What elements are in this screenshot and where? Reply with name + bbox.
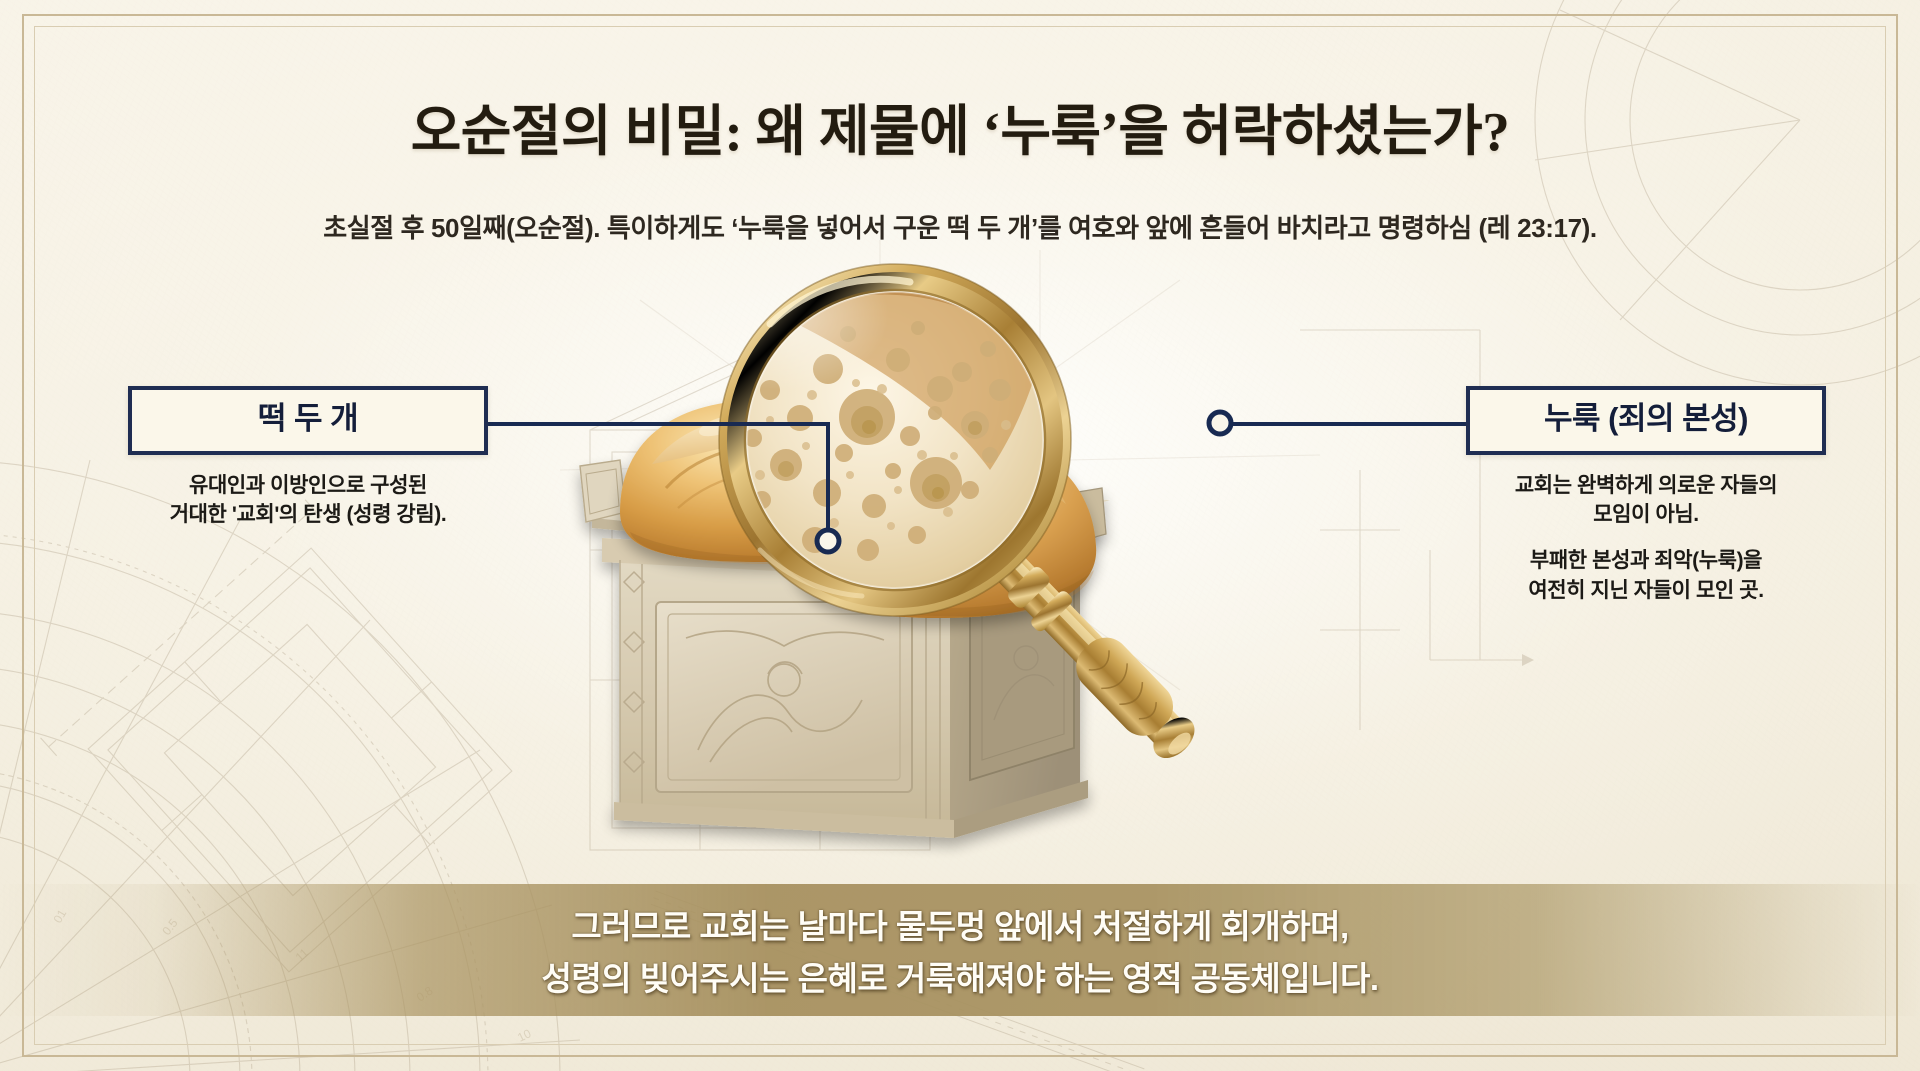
central-illustration bbox=[470, 250, 1480, 890]
callout-right-p1-line-1: 교회는 완벽하게 의로운 자들의 bbox=[1515, 474, 1777, 497]
callout-right-p2-line-1: 부패한 본성과 죄악(누룩)을 bbox=[1530, 549, 1762, 572]
callout-right-title: 누룩 (죄의 본성) bbox=[1476, 403, 1816, 436]
bread-loaf-left bbox=[620, 400, 906, 564]
callout-left-line-1: 유대인과 이방인으로 구성된 bbox=[189, 474, 427, 497]
callout-left-box[interactable]: 떡 두 개 bbox=[128, 386, 488, 455]
callout-right-p1-line-2: 모임이 아님. bbox=[1593, 503, 1698, 526]
page-subtitle: 초실절 후 50일째(오순절). 특이하게도 ‘누룩을 넣어서 구운 떡 두 개… bbox=[0, 208, 1920, 245]
callout-left[interactable]: 떡 두 개 유대인과 이방인으로 구성된 거대한 '교회'의 탄생 (성령 강림… bbox=[128, 386, 488, 530]
callout-right-body: 교회는 완벽하게 의로운 자들의 모임이 아님. 부패한 본성과 죄악(누룩)을… bbox=[1466, 471, 1826, 606]
bread-loaf-right bbox=[787, 428, 1096, 618]
banner-line-1: 그러므로 교회는 날마다 물두멍 앞에서 처절하게 회개하며, bbox=[571, 900, 1348, 948]
callout-right-paragraph-2: 부패한 본성과 죄악(누룩)을 여전히 지닌 자들이 모인 곳. bbox=[1466, 546, 1826, 606]
infographic-canvas: 01 0.5 11 0.8 10 오순절의 비밀: 왜 제물에 ‘누룩’을 허락… bbox=[0, 0, 1920, 1071]
callout-right-p2-line-2: 여전히 지닌 자들이 모인 곳. bbox=[1528, 579, 1763, 602]
callout-right-box[interactable]: 누룩 (죄의 본성) bbox=[1466, 386, 1826, 455]
callout-left-title: 떡 두 개 bbox=[138, 403, 478, 436]
connector-right-endpoint bbox=[1209, 412, 1231, 434]
magnified-bread-crumb bbox=[725, 283, 1045, 590]
callout-right[interactable]: 누룩 (죄의 본성) 교회는 완벽하게 의로운 자들의 모임이 아님. 부패한 … bbox=[1466, 386, 1826, 606]
callout-left-line-2: 거대한 '교회'의 탄생 (성령 강림). bbox=[170, 503, 447, 526]
magnifying-glass bbox=[719, 264, 1205, 769]
connector-left bbox=[488, 424, 828, 535]
magnifier-handle bbox=[982, 540, 1206, 769]
connector-left-endpoint bbox=[817, 530, 839, 552]
banner-line-2: 성령의 빚어주시는 은혜로 거룩해져야 하는 영적 공동체입니다. bbox=[541, 952, 1378, 1000]
svg-text:10: 10 bbox=[515, 1026, 533, 1045]
stone-altar bbox=[580, 460, 1110, 838]
callout-right-paragraph-1: 교회는 완벽하게 의로운 자들의 모임이 아님. bbox=[1466, 471, 1826, 531]
page-title: 오순절의 비밀: 왜 제물에 ‘누룩’을 허락하셨는가? bbox=[0, 86, 1920, 166]
callout-left-body: 유대인과 이방인으로 구성된 거대한 '교회'의 탄생 (성령 강림). bbox=[128, 471, 488, 531]
conclusion-banner: 그러므로 교회는 날마다 물두멍 앞에서 처절하게 회개하며, 성령의 빚어주시… bbox=[0, 884, 1920, 1016]
